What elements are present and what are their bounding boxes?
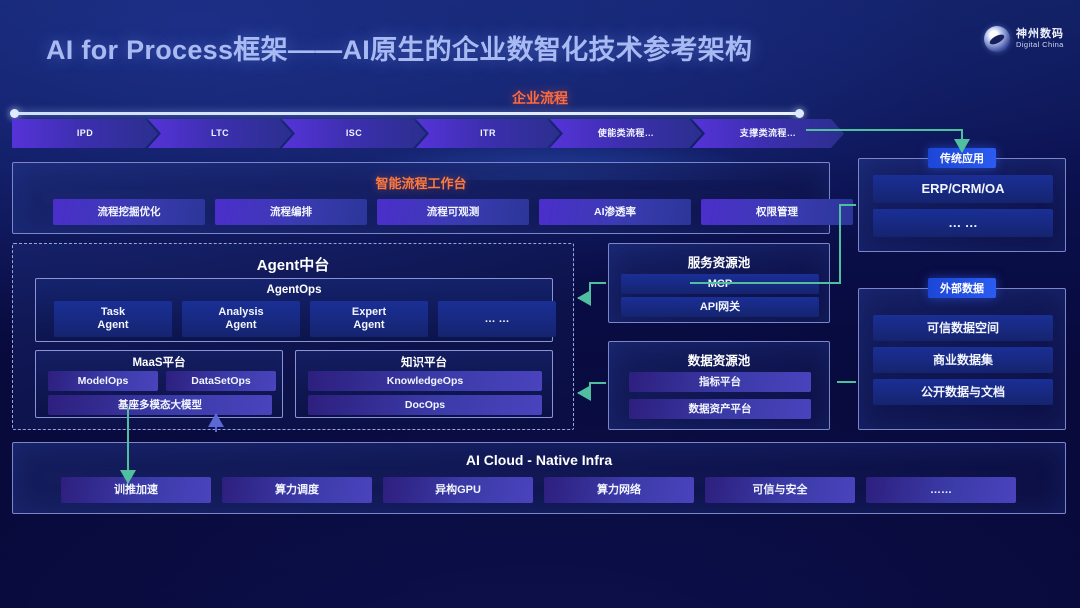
maas-row1-item-1[interactable]: ModelOps (48, 371, 158, 391)
ai-cloud-item-1[interactable]: 训推加速 (61, 477, 211, 503)
digital-china-swirl-icon (984, 26, 1010, 52)
agentops-item-2[interactable]: AnalysisAgent (182, 301, 300, 337)
data-pool-item-1[interactable]: 指标平台 (629, 372, 811, 392)
panel-knowledge: 知识平台 KnowledgeOpsDocOps (295, 350, 553, 418)
ai-cloud-item-5[interactable]: 可信与安全 (705, 477, 855, 503)
workbench-item-4[interactable]: AI渗透率 (539, 199, 691, 225)
ai-cloud-title: AI Cloud - Native Infra (13, 452, 1065, 468)
agentops-item-1[interactable]: TaskAgent (54, 301, 172, 337)
panel-agentops: AgentOps TaskAgentAnalysisAgentExpertAge… (35, 278, 553, 342)
knowledge-row2-item-1[interactable]: DocOps (308, 395, 542, 415)
data-pool-title: 数据资源池 (609, 350, 829, 369)
knowledge-title: 知识平台 (296, 354, 552, 370)
agent-mid-title: Agent中台 (13, 254, 573, 275)
maas-title: MaaS平台 (36, 354, 282, 370)
panel-ai-cloud-native-infra: AI Cloud - Native Infra 训推加速算力调度异构GPU算力网… (12, 442, 1066, 514)
workbench-item-5[interactable]: 权限管理 (701, 199, 853, 225)
flow-stage-1[interactable]: IPD (12, 119, 158, 148)
panel-external-data: 外部数据 可信数据空间商业数据集公开数据与文档 (858, 288, 1066, 430)
external-data-badge: 外部数据 (928, 278, 996, 298)
panel-service-resource-pool: 服务资源池 MCPAPI网关 (608, 243, 830, 323)
ai-cloud-item-4[interactable]: 算力网络 (544, 477, 694, 503)
service-pool-title: 服务资源池 (609, 252, 829, 271)
knowledge-row1-item-1[interactable]: KnowledgeOps (308, 371, 542, 391)
flow-stage-5[interactable]: 使能类流程… (550, 119, 702, 148)
agentops-item-4[interactable]: … … (438, 301, 556, 337)
brand-logo: 神州数码 Digital China (984, 26, 1064, 52)
panel-intelligent-process-workbench: 智能流程工作台 流程挖掘优化流程编排流程可观测AI渗透率权限管理 (12, 162, 830, 234)
flow-stage-list: IPDLTCISCITR使能类流程…支撑类流程… (12, 119, 844, 148)
page-title: AI for Process框架——AI原生的企业数智化技术参考架构 (46, 28, 752, 67)
maas-row1-item-2[interactable]: DataSetOps (166, 371, 276, 391)
workbench-item-3[interactable]: 流程可观测 (377, 199, 529, 225)
flow-stage-2[interactable]: LTC (148, 119, 292, 148)
external-data-item-1[interactable]: 可信数据空间 (873, 315, 1053, 341)
external-data-item-2[interactable]: 商业数据集 (873, 347, 1053, 373)
legacy-apps-badge: 传统应用 (928, 148, 996, 168)
logo-label-en: Digital China (1016, 41, 1064, 49)
connector-data-to-agent (578, 383, 606, 393)
panel-agent-middle-platform: Agent中台 AgentOps TaskAgentAnalysisAgentE… (12, 243, 574, 430)
external-data-item-3[interactable]: 公开数据与文档 (873, 379, 1053, 405)
flow-stage-4[interactable]: ITR (416, 119, 560, 148)
legacy-app-item-1[interactable]: ERP/CRM/OA (873, 175, 1053, 203)
panel-data-resource-pool: 数据资源池 指标平台数据资产平台 (608, 341, 830, 430)
legacy-app-item-2[interactable]: … … (873, 209, 1053, 237)
process-flow-strip: IPDLTCISCITR使能类流程…支撑类流程… (12, 112, 802, 148)
service-pool-item-2[interactable]: API网关 (621, 297, 819, 317)
workbench-title: 智能流程工作台 (13, 173, 829, 192)
panel-legacy-applications: 传统应用 ERP/CRM/OA… … (858, 158, 1066, 252)
agentops-item-3[interactable]: ExpertAgent (310, 301, 428, 337)
connector-service-to-agent (578, 283, 606, 298)
workbench-item-2[interactable]: 流程编排 (215, 199, 367, 225)
panel-maas: MaaS平台 ModelOpsDataSetOps基座多模态大模型 (35, 350, 283, 418)
flow-stage-6[interactable]: 支撑类流程… (692, 119, 844, 148)
flow-start-dot (10, 109, 19, 118)
service-pool-item-1[interactable]: MCP (621, 274, 819, 294)
data-pool-item-2[interactable]: 数据资产平台 (629, 399, 811, 419)
maas-row2-item-1[interactable]: 基座多模态大模型 (48, 395, 272, 415)
flow-stage-3[interactable]: ISC (282, 119, 426, 148)
connector-extdata-stub (838, 382, 856, 383)
flow-rail (12, 112, 802, 115)
ai-cloud-item-2[interactable]: 算力调度 (222, 477, 372, 503)
slide-root: AI for Process框架——AI原生的企业数智化技术参考架构 神州数码 … (0, 0, 1080, 608)
ai-cloud-item-3[interactable]: 异构GPU (383, 477, 533, 503)
ai-cloud-item-6[interactable]: …… (866, 477, 1016, 503)
flow-section-title: 企业流程 (0, 88, 1080, 108)
flow-end-dot (795, 109, 804, 118)
agentops-title: AgentOps (36, 284, 552, 296)
workbench-item-1[interactable]: 流程挖掘优化 (53, 199, 205, 225)
